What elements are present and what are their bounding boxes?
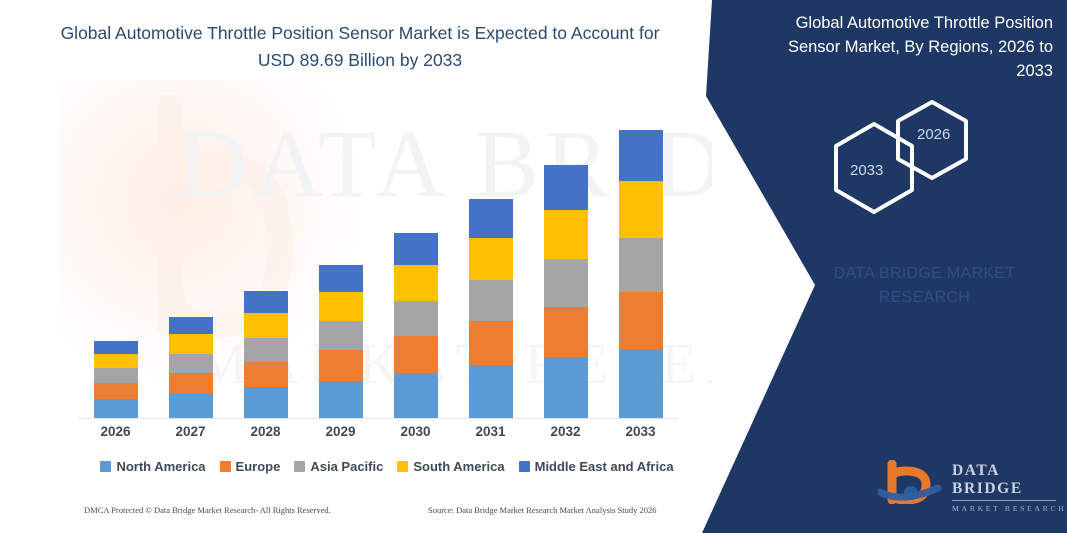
legend-item[interactable]: Middle East and Africa <box>519 459 674 474</box>
legend-label: Asia Pacific <box>310 459 383 474</box>
x-tick-2026: 2026 <box>86 424 146 439</box>
bar-2026 <box>94 341 138 418</box>
bar-2031 <box>469 199 513 418</box>
logo-wordmark: DATA BRIDGE MARKET RESEARCH <box>952 462 1067 513</box>
bar-segment <box>244 313 288 337</box>
bar-segment <box>544 357 588 418</box>
x-tick-2027: 2027 <box>161 424 221 439</box>
legend-label: Europe <box>236 459 281 474</box>
bar-segment <box>169 334 213 353</box>
bar-segment <box>619 292 663 348</box>
footer-copyright: DMCA Protected © Data Bridge Market Rese… <box>84 505 331 515</box>
x-tick-2028: 2028 <box>236 424 296 439</box>
bar-segment <box>319 350 363 381</box>
bar-segment <box>169 394 213 418</box>
bar-segment <box>169 373 213 394</box>
bar-segment <box>469 365 513 418</box>
legend-label: Middle East and Africa <box>535 459 674 474</box>
chart-legend: North AmericaEuropeAsia PacificSouth Ame… <box>92 455 682 477</box>
bar-segment <box>319 321 363 350</box>
bar-segment <box>394 265 438 300</box>
bar-segment <box>544 259 588 307</box>
x-tick-2031: 2031 <box>461 424 521 439</box>
legend-swatch <box>100 461 111 472</box>
bar-2029 <box>319 265 363 418</box>
stacked-bar-plot <box>78 96 678 418</box>
x-tick-2033: 2033 <box>611 424 671 439</box>
bar-segment <box>244 338 288 362</box>
footer-source: Source: Data Bridge Market Research Mark… <box>428 505 657 515</box>
bar-segment <box>94 368 138 382</box>
bar-segment <box>394 373 438 418</box>
legend-item[interactable]: Europe <box>220 459 281 474</box>
footer: DMCA Protected © Data Bridge Market Rese… <box>0 505 712 527</box>
infographic-root: DATA BRIDGE MARKET RESEARCH Global Autom… <box>0 0 1067 533</box>
bar-segment <box>544 210 588 258</box>
x-axis-labels: 20262027202820292030203120322033 <box>78 424 678 446</box>
hexagon-label-2033: 2033 <box>850 162 883 179</box>
legend-item[interactable]: Asia Pacific <box>294 459 383 474</box>
bar-segment <box>394 336 438 373</box>
bar-segment <box>544 307 588 357</box>
x-tick-2030: 2030 <box>386 424 446 439</box>
bar-2032 <box>544 165 588 418</box>
legend-item[interactable]: North America <box>100 459 205 474</box>
legend-swatch <box>294 461 305 472</box>
bar-segment <box>619 349 663 418</box>
chart-pane: DATA BRIDGE MARKET RESEARCH Global Autom… <box>0 0 712 533</box>
bar-segment <box>94 399 138 418</box>
hexagon-graphic <box>826 98 986 216</box>
logo-divider <box>952 500 1056 501</box>
bar-segment <box>469 238 513 280</box>
chart-title: Global Automotive Throttle Position Sens… <box>60 20 660 74</box>
side-panel-title: Global Automotive Throttle Position Sens… <box>748 12 1053 84</box>
x-tick-2029: 2029 <box>311 424 371 439</box>
hexagon-label-2026: 2026 <box>917 126 950 143</box>
bar-segment <box>169 354 213 373</box>
legend-swatch <box>397 461 408 472</box>
bar-2033 <box>619 130 663 418</box>
bar-segment <box>544 165 588 210</box>
bar-segment <box>469 280 513 322</box>
legend-label: South America <box>413 459 504 474</box>
bar-segment <box>94 354 138 368</box>
bar-segment <box>319 265 363 292</box>
bar-segment <box>94 383 138 399</box>
side-panel-brand-text: DATA BRIDGE MARKET RESEARCH <box>812 262 1037 310</box>
logo-main-text: DATA BRIDGE <box>952 462 1067 498</box>
legend-item[interactable]: South America <box>397 459 504 474</box>
bar-segment <box>169 317 213 335</box>
x-tick-2032: 2032 <box>536 424 596 439</box>
bar-segment <box>319 381 363 418</box>
legend-swatch <box>220 461 231 472</box>
axis-baseline <box>78 418 678 419</box>
bar-segment <box>244 362 288 388</box>
bar-segment <box>394 301 438 336</box>
bar-segment <box>244 291 288 314</box>
bar-segment <box>94 341 138 354</box>
legend-label: North America <box>116 459 205 474</box>
bar-segment <box>619 238 663 293</box>
legend-swatch <box>519 461 530 472</box>
logo-sub-text: MARKET RESEARCH <box>952 504 1067 513</box>
bar-segment <box>319 292 363 321</box>
bar-segment <box>394 233 438 265</box>
bar-segment <box>469 199 513 238</box>
bar-2030 <box>394 233 438 418</box>
bar-2028 <box>244 291 288 418</box>
bar-2027 <box>169 317 213 418</box>
bar-segment <box>619 181 663 237</box>
bar-segment <box>619 130 663 182</box>
bar-segment <box>244 387 288 418</box>
bar-segment <box>469 321 513 364</box>
